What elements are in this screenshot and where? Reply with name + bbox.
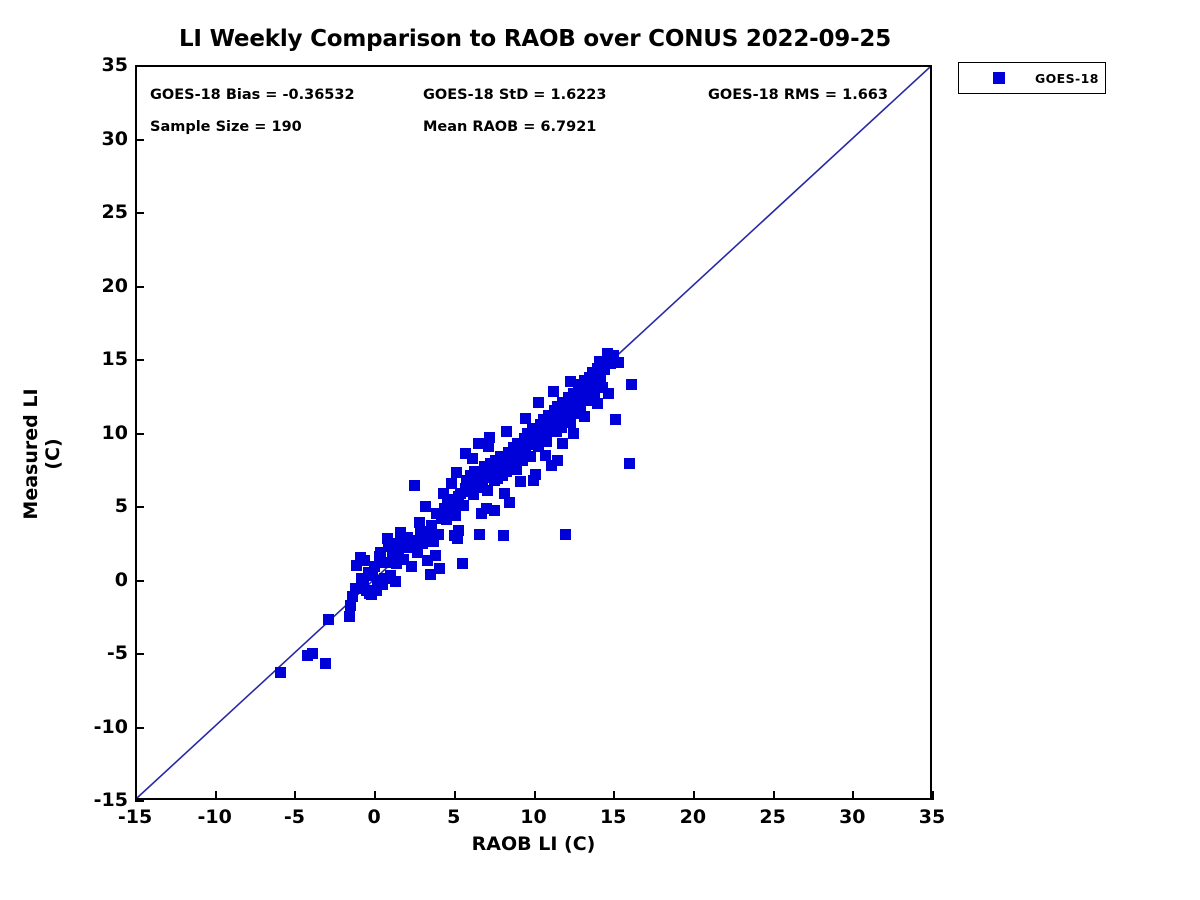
plot-frame — [135, 65, 932, 800]
y-axis-tick-label: 15 — [102, 348, 128, 370]
scatter-point — [484, 432, 495, 443]
scatter-point — [613, 357, 624, 368]
scatter-point — [457, 558, 468, 569]
scatter-point — [450, 510, 461, 521]
scatter-point — [528, 475, 539, 486]
scatter-point — [533, 397, 544, 408]
y-axis-tick — [135, 727, 144, 729]
x-axis-tick — [534, 791, 536, 800]
y-axis-tick-label: 20 — [102, 275, 128, 297]
scatter-point — [320, 658, 331, 669]
scatter-point — [453, 525, 464, 536]
scatter-point — [433, 529, 444, 540]
x-axis-tick-label: 20 — [680, 806, 706, 828]
x-axis-tick — [613, 791, 615, 800]
scatter-point — [540, 450, 551, 461]
y-axis-tick — [135, 433, 144, 435]
scatter-point — [624, 458, 635, 469]
scatter-point — [390, 576, 401, 587]
stat-sample-size: Sample Size = 190 — [150, 119, 302, 135]
x-axis-tick-label: 5 — [447, 806, 460, 828]
scatter-point — [406, 561, 417, 572]
scatter-point — [560, 529, 571, 540]
x-axis-tick-label: -10 — [198, 806, 232, 828]
x-axis-tick — [932, 791, 934, 800]
x-axis-tick-label: -5 — [284, 806, 305, 828]
scatter-point — [557, 438, 568, 449]
scatter-point — [501, 426, 512, 437]
legend-label-goes-18: GOES-18 — [1035, 71, 1099, 86]
x-axis-tick-label: 15 — [600, 806, 626, 828]
y-axis-tick-label: -15 — [94, 789, 128, 811]
scatter-point — [476, 508, 487, 519]
scatter-point — [568, 428, 579, 439]
scatter-point — [473, 438, 484, 449]
x-axis-tick — [374, 791, 376, 800]
x-axis-tick — [135, 791, 137, 800]
scatter-point — [425, 569, 436, 580]
legend-swatch-goes-18 — [993, 72, 1005, 84]
y-axis-tick-label: 10 — [102, 422, 128, 444]
scatter-point — [541, 436, 552, 447]
scatter-point — [525, 451, 536, 462]
scatter-point — [610, 414, 621, 425]
scatter-point — [377, 579, 388, 590]
scatter-point — [420, 501, 431, 512]
x-axis-tick — [693, 791, 695, 800]
scatter-point — [323, 614, 334, 625]
scatter-point — [626, 379, 637, 390]
scatter-point — [414, 517, 425, 528]
y-axis-tick — [135, 212, 144, 214]
scatter-point — [434, 563, 445, 574]
y-axis-tick — [135, 800, 144, 802]
scatter-point — [451, 467, 462, 478]
stat-rms: GOES-18 RMS = 1.663 — [708, 87, 888, 103]
x-axis-tick — [454, 791, 456, 800]
x-axis-tick — [773, 791, 775, 800]
y-axis-tick — [135, 65, 144, 67]
scatter-point — [579, 411, 590, 422]
scatter-point — [430, 550, 441, 561]
scatter-point — [515, 476, 526, 487]
y-axis-tick-label: 5 — [115, 495, 128, 517]
y-axis-tick-label: -10 — [94, 716, 128, 738]
scatter-point — [482, 485, 493, 496]
x-axis-title: RAOB LI (C) — [135, 833, 932, 855]
x-axis-tick-label: 25 — [759, 806, 785, 828]
y-axis-tick — [135, 139, 144, 141]
scatter-point — [603, 388, 614, 399]
scatter-point — [369, 561, 380, 572]
scatter-point — [489, 505, 500, 516]
scatter-point — [565, 376, 576, 387]
y-axis-tick-label: 0 — [115, 569, 128, 591]
y-axis-tick — [135, 286, 144, 288]
y-axis-tick-label: -5 — [107, 642, 128, 664]
scatter-plot-area — [137, 67, 930, 798]
scatter-point — [438, 488, 449, 499]
scatter-point — [359, 555, 370, 566]
y-axis-tick — [135, 359, 144, 361]
x-axis-tick — [852, 791, 854, 800]
stat-std: GOES-18 StD = 1.6223 — [423, 87, 606, 103]
chart-page: LI Weekly Comparison to RAOB over CONUS … — [0, 0, 1200, 900]
y-axis-tick — [135, 653, 144, 655]
x-axis-tick-label: 10 — [520, 806, 546, 828]
scatter-point — [520, 413, 531, 424]
y-axis-tick-label: 30 — [102, 128, 128, 150]
x-axis-tick — [215, 791, 217, 800]
stat-bias: GOES-18 Bias = -0.36532 — [150, 87, 355, 103]
scatter-point — [504, 497, 515, 508]
scatter-point — [498, 530, 509, 541]
y-axis-tick — [135, 580, 144, 582]
page-title: LI Weekly Comparison to RAOB over CONUS … — [0, 26, 1070, 52]
scatter-point — [474, 529, 485, 540]
x-axis-tick — [294, 791, 296, 800]
scatter-point — [592, 398, 603, 409]
scatter-point — [548, 386, 559, 397]
stat-mean-raob: Mean RAOB = 6.7921 — [423, 119, 596, 135]
scatter-point — [460, 448, 471, 459]
scatter-point — [395, 527, 406, 538]
scatter-point — [307, 648, 318, 659]
y-axis-tick-label: 25 — [102, 201, 128, 223]
x-axis-tick-label: 0 — [367, 806, 380, 828]
scatter-point — [552, 455, 563, 466]
y-axis-tick — [135, 506, 144, 508]
legend: GOES-18 — [958, 62, 1106, 94]
scatter-point — [409, 480, 420, 491]
scatter-point — [344, 611, 355, 622]
scatter-point — [458, 500, 469, 511]
scatter-point — [382, 533, 393, 544]
scatter-point — [275, 667, 286, 678]
x-axis-tick-label: 30 — [839, 806, 865, 828]
x-axis-tick-label: 35 — [919, 806, 945, 828]
y-axis-tick-label: 35 — [102, 54, 128, 76]
y-axis-title: Measured LI (C) — [20, 374, 64, 534]
